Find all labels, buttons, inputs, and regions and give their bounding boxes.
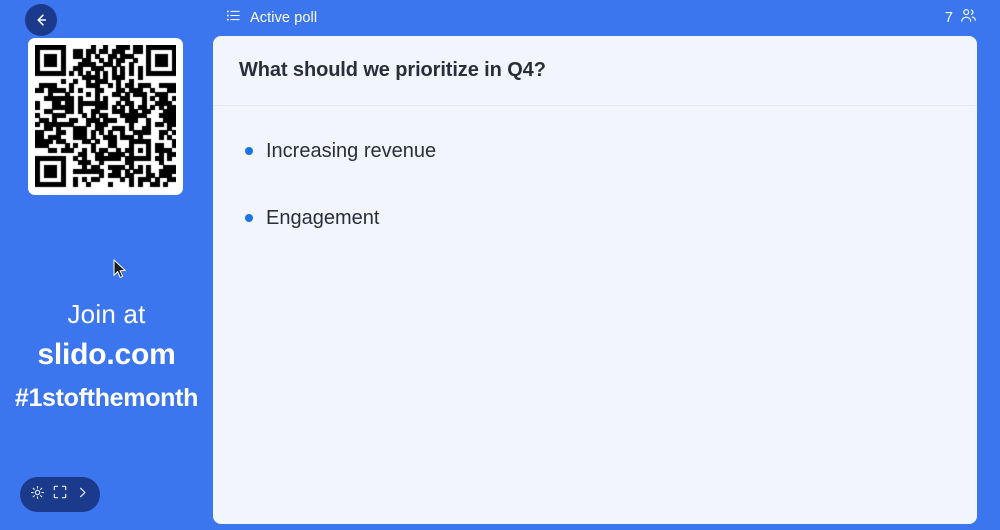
- participants-count: 7: [945, 10, 953, 26]
- fullscreen-icon: [53, 485, 67, 504]
- participants-indicator: 7: [945, 7, 977, 29]
- active-poll-card: What should we prioritize in Q4? Increas…: [213, 36, 977, 524]
- fullscreen-button[interactable]: [50, 485, 70, 505]
- sidebar: Join at slido.com #1stofthemonth: [0, 0, 213, 530]
- arrow-left-icon: [33, 12, 49, 28]
- top-bar-label: Active poll: [250, 10, 317, 26]
- next-button[interactable]: [73, 485, 93, 505]
- poll-option-label: Engagement: [266, 207, 379, 230]
- active-poll-indicator: Active poll: [226, 8, 317, 28]
- slido-presenter-screen: Join at slido.com #1stofthemonth: [0, 0, 1000, 530]
- poll-header: What should we prioritize in Q4?: [213, 36, 977, 106]
- chevron-right-icon: [76, 486, 89, 504]
- join-code: #1stofthemonth: [0, 380, 213, 416]
- poll-option[interactable]: Increasing revenue: [213, 128, 977, 174]
- gear-icon: [30, 485, 45, 505]
- settings-button[interactable]: [27, 485, 47, 505]
- join-at-label: Join at: [0, 296, 213, 332]
- poll-option[interactable]: Engagement: [213, 195, 977, 241]
- poll-options-list: Increasing revenue Engagement: [213, 106, 977, 241]
- poll-question: What should we prioritize in Q4?: [239, 59, 546, 82]
- bullet-icon: [245, 147, 253, 155]
- top-bar: Active poll 7: [213, 0, 1000, 36]
- join-instructions: Join at slido.com #1stofthemonth: [0, 296, 213, 416]
- people-icon: [960, 7, 977, 29]
- bullet-icon: [245, 214, 253, 222]
- back-button[interactable]: [25, 4, 57, 36]
- qr-code-card: [28, 38, 183, 195]
- qr-code: [35, 45, 176, 188]
- join-domain: slido.com: [0, 334, 213, 376]
- poll-option-label: Increasing revenue: [266, 140, 436, 163]
- mouse-cursor: [112, 259, 128, 286]
- list-icon: [226, 8, 241, 28]
- presenter-controls: [20, 477, 100, 512]
